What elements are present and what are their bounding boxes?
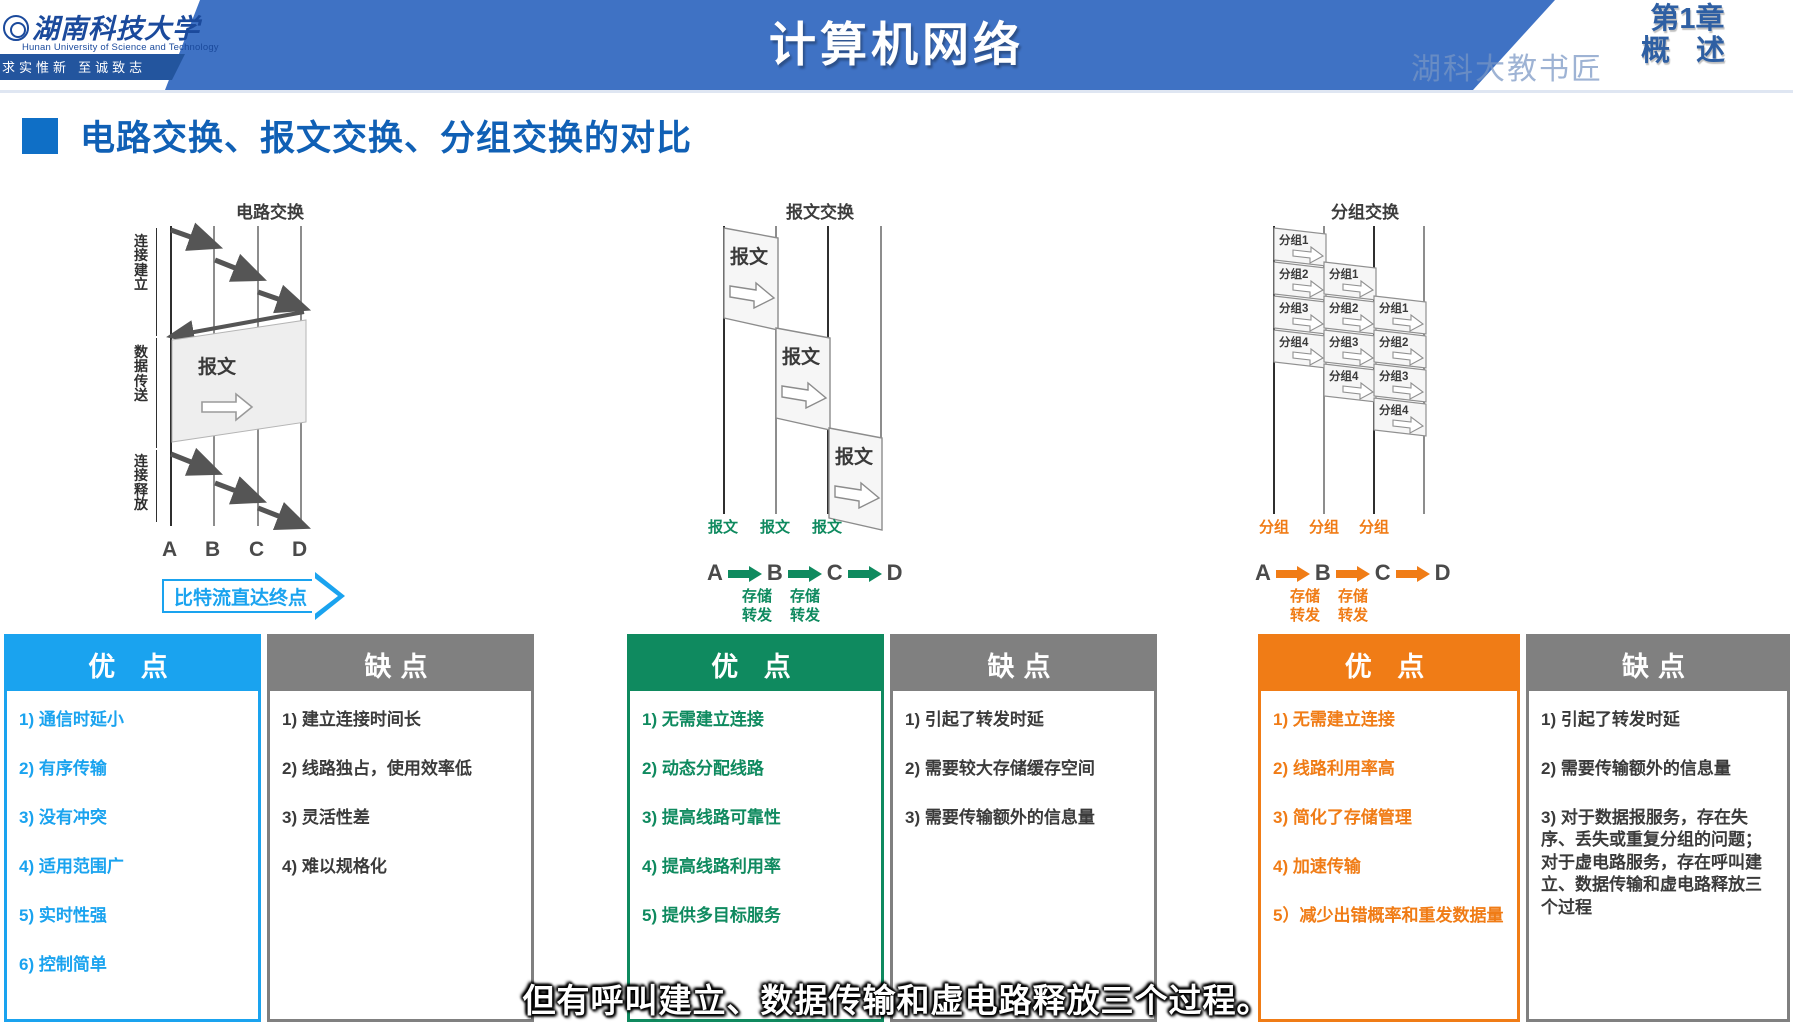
table-body-pros: 1) 无需建立连接 2) 线路利用率高 3) 简化了存储管理 4) 加速传输 5… — [1261, 691, 1517, 1019]
packet-cap-c: 分组 — [1359, 516, 1389, 537]
slide-title: 电路交换、报文交换、分组交换的对比 — [80, 110, 692, 161]
chapter-number: 第1章 — [1600, 3, 1775, 35]
packet-label-hop2-3: 分组3 — [1329, 334, 1358, 350]
packet-store-forward-2: 存储转发 — [1338, 588, 1368, 626]
list-item: 3) 灵活性差 — [282, 807, 519, 830]
message-store-forward-1: 存储转发 — [742, 588, 772, 626]
packet-flow-row: A B C D — [1255, 560, 1451, 586]
list-item: 3) 对于数据报服务，存在失序、丢失或重复分组的问题；对于虚电路服务，存在呼叫建… — [1541, 807, 1775, 919]
node-label-c: C — [249, 538, 264, 562]
flow-arrow-icon-2 — [788, 566, 822, 581]
table-head-cons: 缺点 — [1529, 637, 1787, 691]
packet-label-hop1-4: 分组4 — [1279, 334, 1308, 350]
table-head-pros: 优 点 — [1261, 637, 1517, 691]
packet-label-hop1-2: 分组2 — [1279, 266, 1308, 282]
list-item: 2) 动态分配线路 — [642, 758, 869, 781]
list-item: 5）减少出错概率和重发数据量 — [1273, 905, 1505, 928]
table-body-cons: 1) 建立连接时间长 2) 线路独占，使用效率低 3) 灵活性差 4) 难以规格… — [270, 691, 531, 1019]
table-body-pros: 1) 通信时延小 2) 有序传输 3) 没有冲突 4) 适用范围广 5) 实时性… — [7, 691, 258, 1019]
list-item: 1) 引起了转发时延 — [905, 709, 1142, 732]
packet-label-hop2-1: 分组1 — [1329, 266, 1358, 282]
list-item: 1) 无需建立连接 — [1273, 709, 1505, 732]
table-group-message: 优 点 1) 无需建立连接 2) 动态分配线路 3) 提高线路可靠性 4) 提高… — [627, 634, 1157, 1022]
banner-arrow-head-icon — [315, 572, 345, 620]
slide-title-row: 电路交换、报文交换、分组交换的对比 — [22, 110, 692, 161]
list-item: 1) 无需建立连接 — [642, 709, 869, 732]
packet-store-forward-1: 存储转发 — [1290, 588, 1320, 626]
packet-label-hop3-2: 分组2 — [1379, 334, 1408, 350]
flow-node-d: D — [887, 560, 903, 586]
message-block-label-3: 报文 — [835, 442, 873, 469]
message-flow-row: A B C D — [707, 560, 903, 586]
table-circuit-pros: 优 点 1) 通信时延小 2) 有序传输 3) 没有冲突 4) 适用范围广 5)… — [4, 634, 261, 1022]
message-cap-a: 报文 — [708, 516, 738, 537]
list-item: 3) 简化了存储管理 — [1273, 807, 1505, 830]
table-group-circuit: 优 点 1) 通信时延小 2) 有序传输 3) 没有冲突 4) 适用范围广 5)… — [4, 634, 534, 1022]
bullet-square-icon — [22, 118, 58, 154]
circuit-message-label: 报文 — [198, 352, 236, 379]
packet-label-hop3-4: 分组4 — [1379, 402, 1408, 418]
list-item: 1) 通信时延小 — [19, 709, 246, 732]
chapter-badge: 第1章 概 述 — [1600, 3, 1775, 68]
list-item: 5) 提供多目标服务 — [642, 905, 869, 928]
flow-node-a: A — [1255, 560, 1271, 586]
message-cap-b: 报文 — [760, 516, 790, 537]
chapter-name: 概 述 — [1600, 35, 1775, 67]
table-head-pros: 优 点 — [7, 637, 258, 691]
message-store-forward-2: 存储转发 — [790, 588, 820, 626]
diagram-circuit-switching: 电路交换 连接建立 数据传送 连接释放 — [120, 190, 480, 570]
flow-arrow-icon-3 — [848, 566, 882, 581]
list-item: 4) 难以规格化 — [282, 856, 519, 879]
logo-chinese-name: 湖南科技大学 — [32, 7, 200, 46]
logo-english-name: Hunan University of Science and Technolo… — [22, 42, 219, 53]
list-item: 2) 需要传输额外的信息量 — [1541, 758, 1775, 781]
table-group-packet: 优 点 1) 无需建立连接 2) 线路利用率高 3) 简化了存储管理 4) 加速… — [1258, 634, 1790, 1022]
flow-arrow-icon-1 — [728, 566, 762, 581]
packet-label-hop1-3: 分组3 — [1279, 300, 1308, 316]
list-item: 2) 需要较大存储缓存空间 — [905, 758, 1142, 781]
packet-cap-a: 分组 — [1259, 516, 1289, 537]
table-body-cons: 1) 引起了转发时延 2) 需要传输额外的信息量 3) 对于数据报服务，存在失序… — [1529, 691, 1787, 1019]
diagram-message-switching: 报文交换 报文 报文 报文 报文 报文 报文 — [690, 190, 1030, 570]
flow-node-c: C — [1375, 560, 1391, 586]
header-underline — [0, 90, 1793, 93]
message-block-label-2: 报文 — [782, 342, 820, 369]
logo-motto: 求实惟新 至诚致志 — [2, 57, 177, 76]
bitstream-banner-label: 比特流直达终点 — [162, 579, 315, 613]
table-packet-pros: 优 点 1) 无需建立连接 2) 线路利用率高 3) 简化了存储管理 4) 加速… — [1258, 634, 1520, 1022]
university-logo: 湖南科技大学 Hunan University of Science and T… — [0, 2, 200, 90]
message-cap-c: 报文 — [812, 516, 842, 537]
table-body-cons: 1) 引起了转发时延 2) 需要较大存储缓存空间 3) 需要传输额外的信息量 — [893, 691, 1154, 1019]
list-item: 4) 提高线路利用率 — [642, 856, 869, 879]
list-item: 2) 线路利用率高 — [1273, 758, 1505, 781]
flow-arrow-icon-2 — [1336, 566, 1370, 581]
list-item: 2) 有序传输 — [19, 758, 246, 781]
packet-label-hop3-1: 分组1 — [1379, 300, 1408, 316]
list-item: 3) 提高线路可靠性 — [642, 807, 869, 830]
list-item: 5) 实时性强 — [19, 905, 246, 928]
table-head-cons: 缺点 — [893, 637, 1154, 691]
packet-blocks-svg — [1255, 190, 1615, 570]
list-item: 1) 建立连接时间长 — [282, 709, 519, 732]
slide-header: 计算机网络 湖南科技大学 Hunan University of Science… — [0, 0, 1793, 90]
packet-cap-b: 分组 — [1309, 516, 1339, 537]
node-label-d: D — [292, 538, 307, 562]
flow-node-b: B — [1315, 560, 1331, 586]
node-label-a: A — [162, 538, 177, 562]
flow-node-d: D — [1435, 560, 1451, 586]
diagram-packet-switching: 分组交换 — [1255, 190, 1615, 570]
bitstream-banner: 比特流直达终点 — [162, 572, 345, 620]
list-item: 4) 适用范围广 — [19, 856, 246, 879]
list-item: 1) 引起了转发时延 — [1541, 709, 1775, 732]
slide-root: 计算机网络 湖南科技大学 Hunan University of Science… — [0, 0, 1793, 1030]
table-head-cons: 缺点 — [270, 637, 531, 691]
table-body-pros: 1) 无需建立连接 2) 动态分配线路 3) 提高线路可靠性 4) 提高线路利用… — [630, 691, 881, 1019]
message-block-label-1: 报文 — [730, 242, 768, 269]
table-circuit-cons: 缺点 1) 建立连接时间长 2) 线路独占，使用效率低 3) 灵活性差 4) 难… — [267, 634, 534, 1022]
table-message-cons: 缺点 1) 引起了转发时延 2) 需要较大存储缓存空间 3) 需要传输额外的信息… — [890, 634, 1157, 1022]
circuit-arrows-svg — [120, 190, 480, 570]
flow-node-a: A — [707, 560, 723, 586]
list-item: 4) 加速传输 — [1273, 856, 1505, 879]
flow-arrow-icon-3 — [1396, 566, 1430, 581]
list-item: 3) 没有冲突 — [19, 807, 246, 830]
seal-icon — [3, 15, 29, 41]
video-subtitle: 但有呼叫建立、数据传输和虚电路释放三个过程。 — [0, 974, 1793, 1022]
list-item: 2) 线路独占，使用效率低 — [282, 758, 519, 781]
table-message-pros: 优 点 1) 无需建立连接 2) 动态分配线路 3) 提高线路可靠性 4) 提高… — [627, 634, 884, 1022]
packet-label-hop1-1: 分组1 — [1279, 232, 1308, 248]
flow-node-c: C — [827, 560, 843, 586]
list-item: 3) 需要传输额外的信息量 — [905, 807, 1142, 830]
flow-arrow-icon-1 — [1276, 566, 1310, 581]
packet-label-hop2-2: 分组2 — [1329, 300, 1358, 316]
flow-node-b: B — [767, 560, 783, 586]
packet-label-hop3-3: 分组3 — [1379, 368, 1408, 384]
table-head-pros: 优 点 — [630, 637, 881, 691]
table-packet-cons: 缺点 1) 引起了转发时延 2) 需要传输额外的信息量 3) 对于数据报服务，存… — [1526, 634, 1790, 1022]
packet-label-hop2-4: 分组4 — [1329, 368, 1358, 384]
node-label-b: B — [205, 538, 220, 562]
